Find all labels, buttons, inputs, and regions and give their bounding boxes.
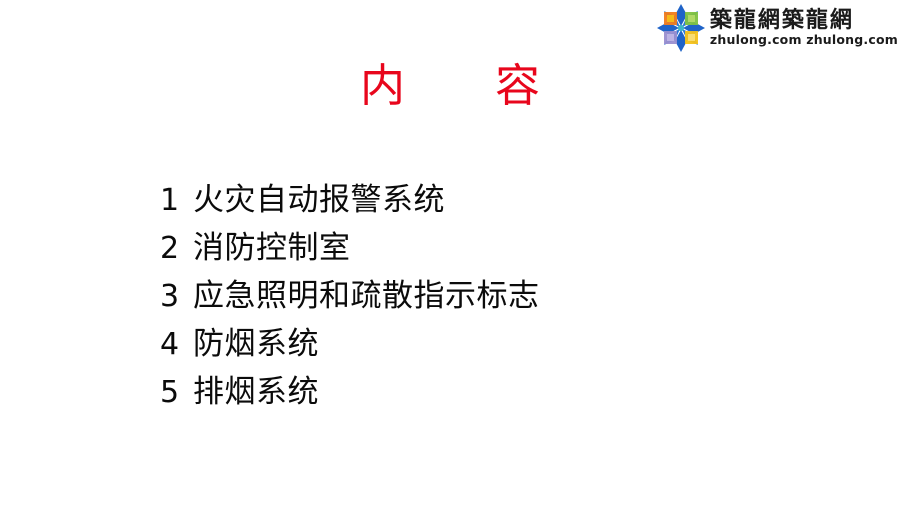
list-item-number: 5: [160, 378, 184, 408]
list-item-label: 排烟系统: [193, 377, 319, 408]
watermark-branding: 築龍網築龍網 zhulong.com zhulong.com: [656, 2, 898, 54]
list-item-label: 应急照明和疏散指示标志: [193, 281, 540, 312]
list-item-number: 1: [160, 186, 184, 216]
page-title: 内 容: [0, 62, 900, 111]
list-item-label: 消防控制室: [193, 233, 351, 264]
list-item-number: 3: [160, 282, 184, 312]
list-item: 4 防烟系统: [160, 329, 860, 377]
list-item: 5 排烟系统: [160, 377, 860, 425]
list-item-number: 2: [160, 234, 184, 264]
watermark-text-block: 築龍網築龍網 zhulong.com zhulong.com: [710, 9, 898, 47]
list-item: 2 消防控制室: [160, 233, 860, 281]
list-item-number: 4: [160, 330, 184, 360]
content-outline-list: 1 火灾自动报警系统 2 消防控制室 3 应急照明和疏散指示标志 4 防烟系统 …: [160, 185, 860, 425]
brand-url-en: zhulong.com zhulong.com: [710, 34, 898, 47]
list-item-label: 火灾自动报警系统: [193, 185, 445, 216]
slide-canvas: 築龍網築龍網 zhulong.com zhulong.com 内 容 1 火灾自…: [0, 0, 900, 506]
list-item-label: 防烟系统: [193, 329, 319, 360]
zhulong-flower-logo-icon: [656, 3, 706, 53]
list-item: 1 火灾自动报警系统: [160, 185, 860, 233]
list-item: 3 应急照明和疏散指示标志: [160, 281, 860, 329]
brand-name-cn: 築龍網築龍網: [710, 9, 898, 31]
